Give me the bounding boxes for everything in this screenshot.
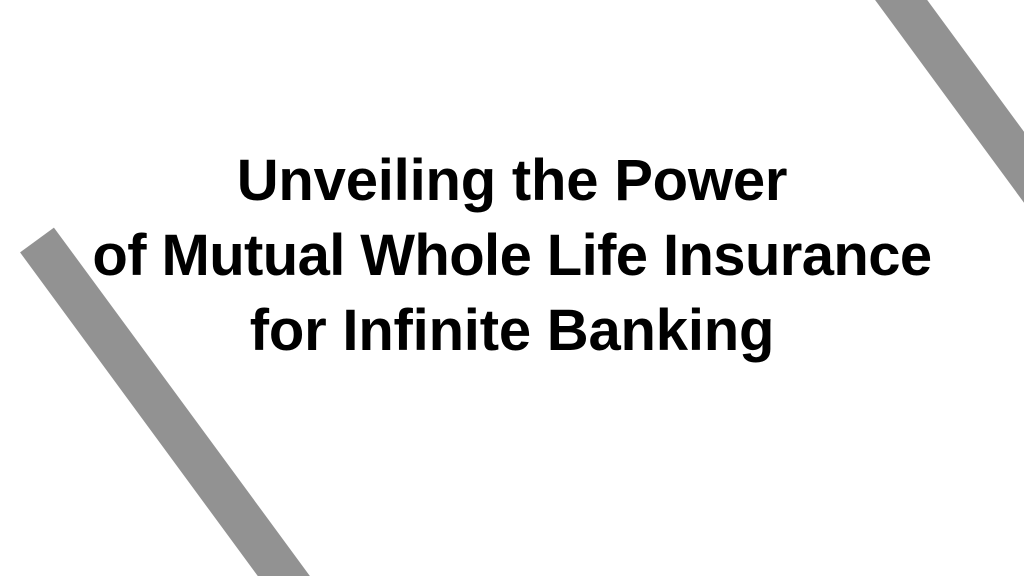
title-line-1: Unveiling the Power (24, 143, 1000, 218)
title-line-3: for Infinite Banking (24, 293, 1000, 368)
title-line-2: of Mutual Whole Life Insurance (24, 218, 1000, 293)
title-slide: Unveiling the Power of Mutual Whole Life… (0, 0, 1024, 576)
page-title: Unveiling the Power of Mutual Whole Life… (0, 143, 1024, 368)
